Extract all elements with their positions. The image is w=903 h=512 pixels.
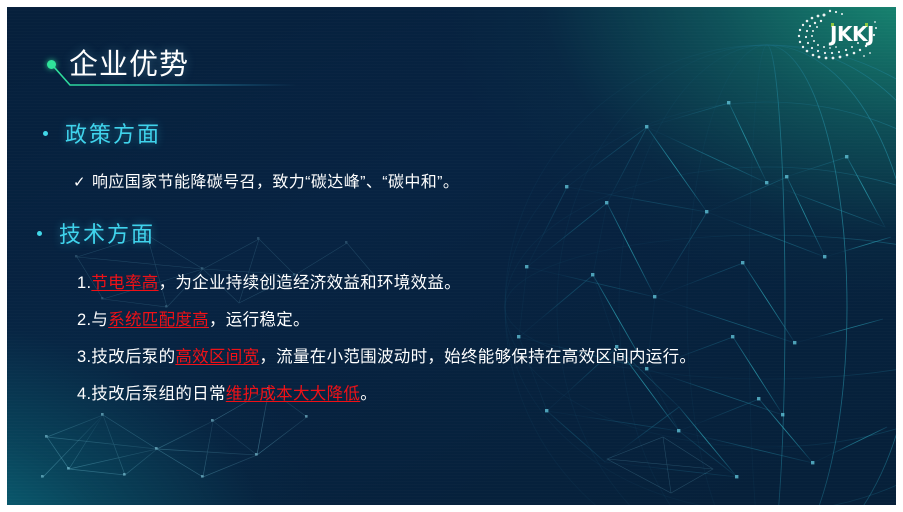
item-number: 3.	[77, 348, 91, 366]
item-tail: ，为企业持续创造经济效益和环境效益。	[159, 274, 461, 292]
check-icon: ✓	[73, 174, 86, 191]
item-highlight: 维护成本大大降低	[226, 385, 360, 403]
bullet-dot-icon	[37, 231, 42, 236]
company-logo: JKKJ	[790, 9, 886, 63]
logo-wordmark: JKKJ	[830, 22, 874, 46]
item-lead: 技改后泵的	[91, 348, 175, 366]
list-item: 1.节电率高，为企业持续创造经济效益和环境效益。	[77, 265, 887, 302]
item-tail: 。	[360, 385, 377, 403]
item-lead: 与	[91, 311, 108, 329]
item-highlight: 高效区间宽	[175, 348, 259, 366]
list-item: 3.技改后泵的高效区间宽，流量在小范围波动时，始终能够保持在高效区间内运行。	[77, 339, 887, 376]
item-tail: ，运行稳定。	[209, 311, 310, 329]
section-header-tech: 技术方面	[37, 217, 155, 249]
item-number: 2.	[77, 311, 91, 329]
bullet-dot-icon	[43, 131, 48, 136]
item-number: 1.	[77, 274, 91, 292]
section-label-tech: 技术方面	[59, 217, 155, 249]
title-accent-dot	[47, 60, 56, 69]
presentation-slide: JKKJ 企业优势 政策方面 ✓响应国家节能降碳号召，致力“碳达峰”、“碳中和”…	[7, 7, 896, 505]
list-item: 2.与系统匹配度高，运行稳定。	[77, 302, 887, 339]
policy-point-item: ✓响应国家节能降碳号召，致力“碳达峰”、“碳中和”。	[73, 168, 459, 192]
item-number: 4.	[77, 385, 91, 403]
item-highlight: 节电率高	[91, 274, 158, 292]
slide-title-block: 企业优势	[7, 7, 427, 99]
list-item: 4.技改后泵组的日常维护成本大大降低。	[77, 376, 887, 413]
item-highlight: 系统匹配度高	[108, 311, 209, 329]
section-label-policy: 政策方面	[65, 117, 161, 149]
item-tail: ，流量在小范围波动时，始终能够保持在高效区间内运行。	[259, 348, 696, 366]
section-header-policy: 政策方面	[43, 117, 161, 149]
page-title: 企业优势	[69, 41, 189, 83]
policy-point-text: 响应国家节能降碳号召，致力“碳达峰”、“碳中和”。	[92, 174, 459, 191]
constellation-bottom-right	[607, 437, 713, 493]
tech-advantage-list: 1.节电率高，为企业持续创造经济效益和环境效益。 2.与系统匹配度高，运行稳定。…	[77, 265, 887, 413]
item-lead: 技改后泵组的日常	[91, 385, 225, 403]
